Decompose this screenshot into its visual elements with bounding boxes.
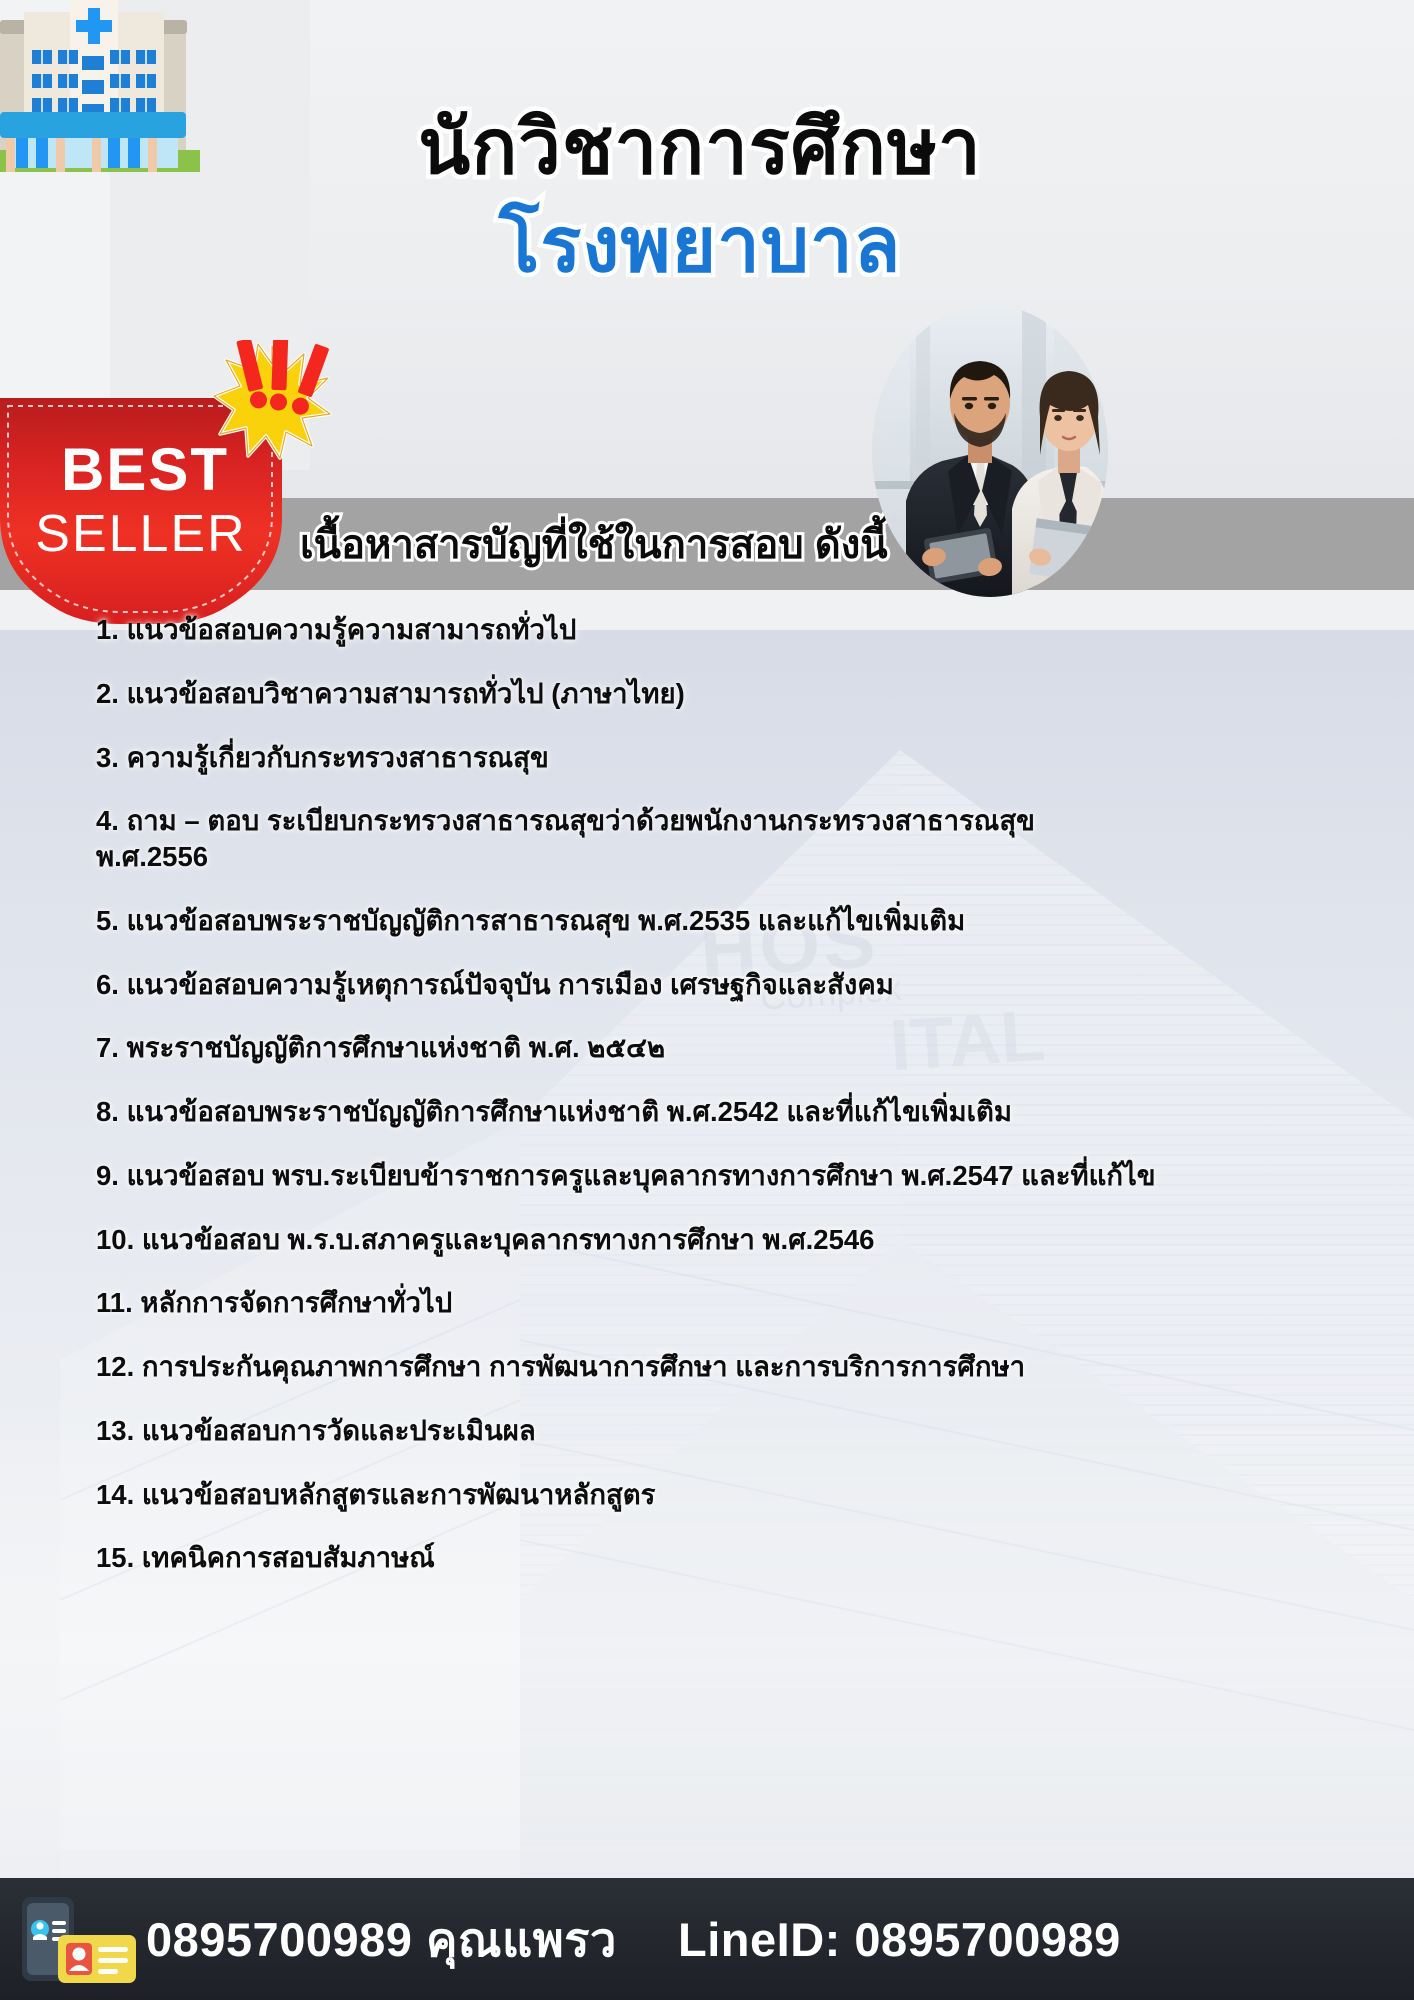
hospital-building-icon	[0, 0, 200, 180]
list-item: 5. แนวข้อสอบพระราชบัญญัติการสาธารณสุข พ.…	[96, 903, 1336, 939]
contact-card-icon	[58, 1935, 136, 1983]
list-item: 1. แนวข้อสอบความรู้ความสามารถทั่วไป	[96, 612, 1336, 648]
list-item: 2. แนวข้อสอบวิชาความสามารถทั่วไป (ภาษาไท…	[96, 676, 1336, 712]
list-item: 14. แนวข้อสอบหลักสูตรและการพัฒนาหลักสูตร	[96, 1477, 1336, 1513]
list-item: 3. ความรู้เกี่ยวกับกระทรวงสาธารณสุข	[96, 740, 1336, 776]
exclamation-burst-icon	[212, 340, 332, 460]
list-item: 7. พระราชบัญญัติการศึกษาแห่งชาติ พ.ศ. ๒๕…	[96, 1030, 1336, 1066]
title-line-2: โรงพยาบาล	[250, 208, 1150, 284]
title-line-1: นักวิชาการศึกษา	[250, 110, 1150, 186]
list-item: 8. แนวข้อสอบพระราชบัญญัติการศึกษาแห่งชาต…	[96, 1094, 1336, 1130]
contact-footer: 0895700989 คุณแพรว LineID: 0895700989	[0, 1878, 1414, 2000]
list-item: 13. แนวข้อสอบการวัดและประเมินผล	[96, 1413, 1336, 1449]
footer-line-id: LineID: 0895700989	[678, 1913, 1121, 1966]
list-item: 10. แนวข้อสอบ พ.ร.บ.สภาครูและบุคลากรทางก…	[96, 1222, 1336, 1258]
poster-page: HOS Complex ITAL	[0, 0, 1414, 2000]
list-item: 6. แนวข้อสอบความรู้เหตุการณ์ปัจจุบัน การ…	[96, 967, 1336, 1003]
exam-topic-list: 1. แนวข้อสอบความรู้ความสามารถทั่วไป 2. แ…	[96, 612, 1336, 1604]
footer-phone: 0895700989 คุณแพรว	[146, 1913, 617, 1966]
contact-icons	[16, 1889, 146, 1989]
poster-title: นักวิชาการศึกษา โรงพยาบาล	[250, 110, 1150, 284]
list-item: 4. ถาม – ตอบ ระเบียบกระทรวงสาธารณสุขว่าด…	[96, 803, 1336, 875]
list-item: 11. หลักการจัดการศึกษาทั่วไป	[96, 1285, 1336, 1321]
list-item: 9. แนวข้อสอบ พรบ.ระเบียบข้าราชการครูและบ…	[96, 1158, 1336, 1194]
badge-label-seller: SELLER	[22, 508, 260, 560]
list-item: 12. การประกันคุณภาพการศึกษา การพัฒนาการศ…	[96, 1349, 1336, 1385]
list-item: 15. เทคนิคการสอบสัมภาษณ์	[96, 1540, 1336, 1576]
footer-contact-line: 0895700989 คุณแพรว LineID: 0895700989	[146, 1902, 1121, 1977]
professionals-photo	[872, 305, 1108, 597]
